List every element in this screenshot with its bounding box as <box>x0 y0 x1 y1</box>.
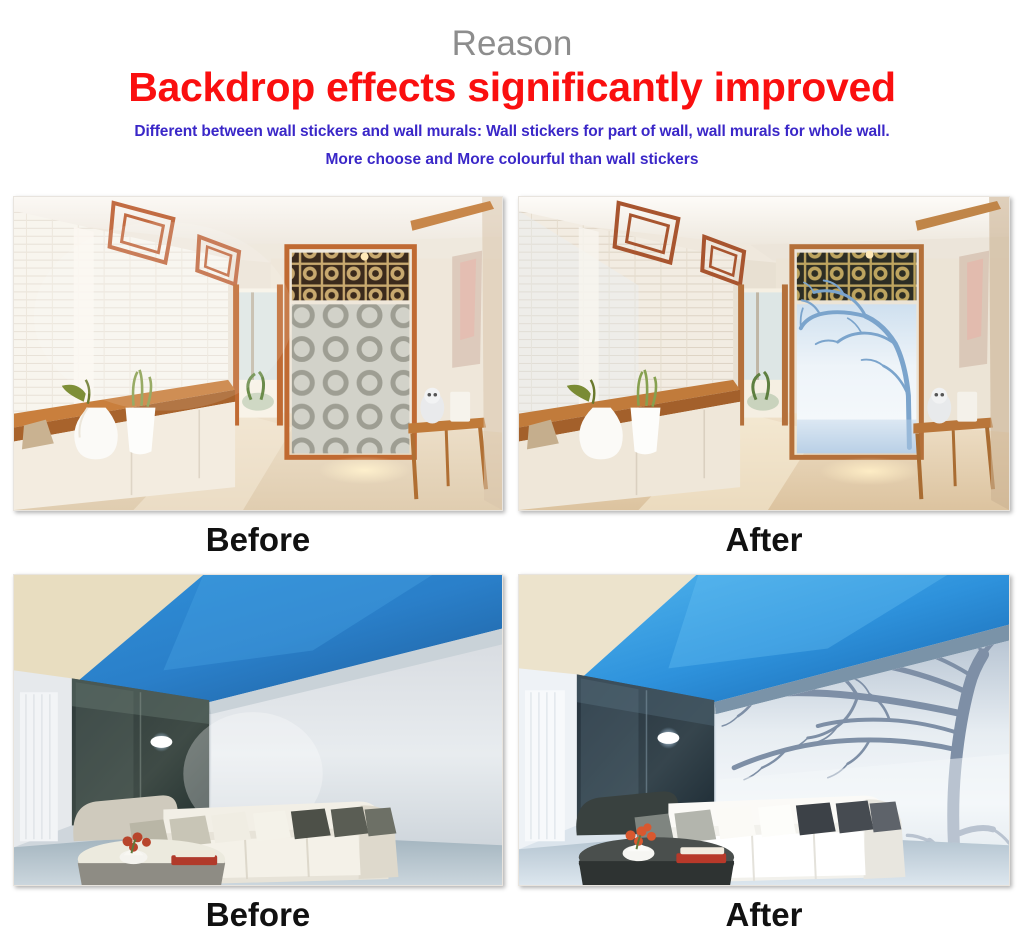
comparison-cell-before-hallway: Before <box>13 196 503 556</box>
photo-before-living <box>13 574 503 886</box>
hallway-after-illustration <box>519 197 1009 510</box>
caption-after-living: After <box>518 898 1010 931</box>
living-room-before-illustration <box>14 575 502 885</box>
comparison-cell-after-hallway: After <box>518 196 1010 556</box>
header-block: Reason Backdrop effects significantly im… <box>0 0 1024 169</box>
comparison-row-2: Before <box>0 574 1024 944</box>
eyebrow-title: Reason <box>0 0 1024 61</box>
page-headline: Backdrop effects significantly improved <box>0 67 1024 108</box>
hallway-before-illustration <box>14 197 502 510</box>
photo-after-hallway <box>518 196 1010 511</box>
product-banner-page: Reason Backdrop effects significantly im… <box>0 0 1024 944</box>
subtitle-line-1: Different between wall stickers and wall… <box>0 124 1024 140</box>
subtitle-line-2: More choose and More colourful than wall… <box>0 152 1024 168</box>
photo-before-hallway <box>13 196 503 511</box>
caption-after-hallway: After <box>518 523 1010 556</box>
comparison-cell-after-living: After <box>518 574 1010 931</box>
comparison-row-1: Before <box>0 196 1024 568</box>
comparison-cell-before-living: Before <box>13 574 503 931</box>
caption-before-living: Before <box>13 898 503 931</box>
caption-before-hallway: Before <box>13 523 503 556</box>
comparison-grid: Before <box>0 196 1024 944</box>
living-room-after-illustration <box>519 575 1009 885</box>
photo-after-living <box>518 574 1010 886</box>
